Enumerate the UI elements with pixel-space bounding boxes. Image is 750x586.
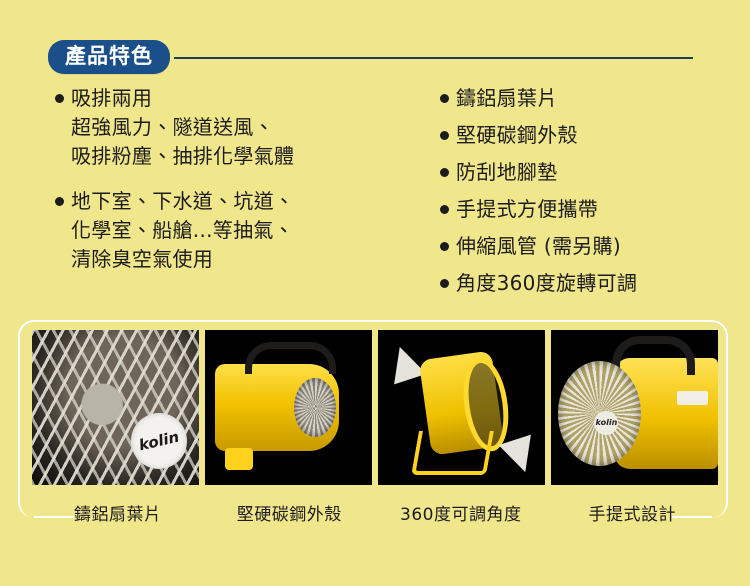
feature-item: 伸縮風管 (需另購) [440, 232, 740, 261]
feature-item: 防刮地腳墊 [440, 158, 740, 187]
brand-badge: kolin [594, 411, 618, 435]
gallery-captions: 鑄鋁扇葉片 堅硬碳鋼外殼 360度可調角度 手提式設計 [32, 500, 718, 525]
feature-item: 手提式方便攜帶 [440, 195, 740, 224]
feature-text: 鑄鋁扇葉片 [456, 84, 558, 113]
feature-item: 吸排兩用 超強風力、隧道送風、 吸排粉塵、抽排化學氣體 [55, 84, 405, 171]
product-photo-blades[interactable]: kolin [32, 330, 199, 485]
spec-label-shape [677, 391, 708, 404]
feature-text: 防刮地腳墊 [456, 158, 558, 187]
bullet-dot-icon [55, 94, 64, 103]
section-title-badge: 產品特色 [48, 40, 170, 74]
feature-text: 角度360度旋轉可調 [456, 269, 637, 298]
bullet-dot-icon [440, 205, 449, 214]
feature-text: 吸排兩用 超強風力、隧道送風、 吸排粉塵、抽排化學氣體 [71, 84, 294, 171]
photo-caption: 堅硬碳鋼外殼 [204, 500, 376, 525]
bullet-dot-icon [440, 168, 449, 177]
carry-handle-icon [245, 342, 336, 374]
header-divider-line [174, 57, 693, 59]
bullet-dot-icon [440, 242, 449, 251]
feature-lists: 吸排兩用 超強風力、隧道送風、 吸排粉塵、抽排化學氣體 地下室、下水道、坑道、 … [0, 84, 750, 306]
fan-drum-shape [215, 364, 339, 451]
photo-caption: 鑄鋁扇葉片 [32, 500, 204, 525]
feature-item: 地下室、下水道、坑道、 化學室、船艙...等抽氣、 清除臭空氣使用 [55, 187, 405, 274]
arrow-down-icon [498, 434, 541, 477]
feature-column-right: 鑄鋁扇葉片 堅硬碳鋼外殼 防刮地腳墊 手提式方便攜帶 伸縮風管 (需另購) 角度… [440, 84, 740, 306]
bullet-dot-icon [55, 197, 64, 206]
feature-item: 角度360度旋轉可調 [440, 269, 740, 298]
fan-stand-shape [411, 431, 494, 475]
gallery-photos: kolin kolin [32, 330, 718, 485]
bullet-dot-icon [440, 131, 449, 140]
feature-text: 伸縮風管 (需另購) [456, 232, 621, 261]
feature-item: 鑄鋁扇葉片 [440, 84, 740, 113]
bullet-dot-icon [440, 279, 449, 288]
carry-handle-icon [612, 336, 695, 375]
product-photo-tilt[interactable] [378, 330, 545, 485]
feature-column-left: 吸排兩用 超強風力、隧道送風、 吸排粉塵、抽排化學氣體 地下室、下水道、坑道、 … [55, 84, 405, 290]
feature-text: 地下室、下水道、坑道、 化學室、船艙...等抽氣、 清除臭空氣使用 [71, 187, 294, 274]
section-header: 產品特色 [48, 41, 693, 73]
fan-face-icon [294, 378, 336, 437]
feature-item: 堅硬碳鋼外殼 [440, 121, 740, 150]
arrow-up-icon [384, 341, 427, 384]
foot-knob-shape [225, 448, 253, 470]
product-photo-portable[interactable]: kolin [551, 330, 718, 485]
bullet-dot-icon [440, 94, 449, 103]
feature-text: 手提式方便攜帶 [456, 195, 598, 224]
feature-text: 堅硬碳鋼外殼 [456, 121, 578, 150]
photo-caption: 手提式設計 [547, 500, 719, 525]
product-photo-housing[interactable] [205, 330, 372, 485]
photo-caption: 360度可調角度 [375, 500, 547, 525]
